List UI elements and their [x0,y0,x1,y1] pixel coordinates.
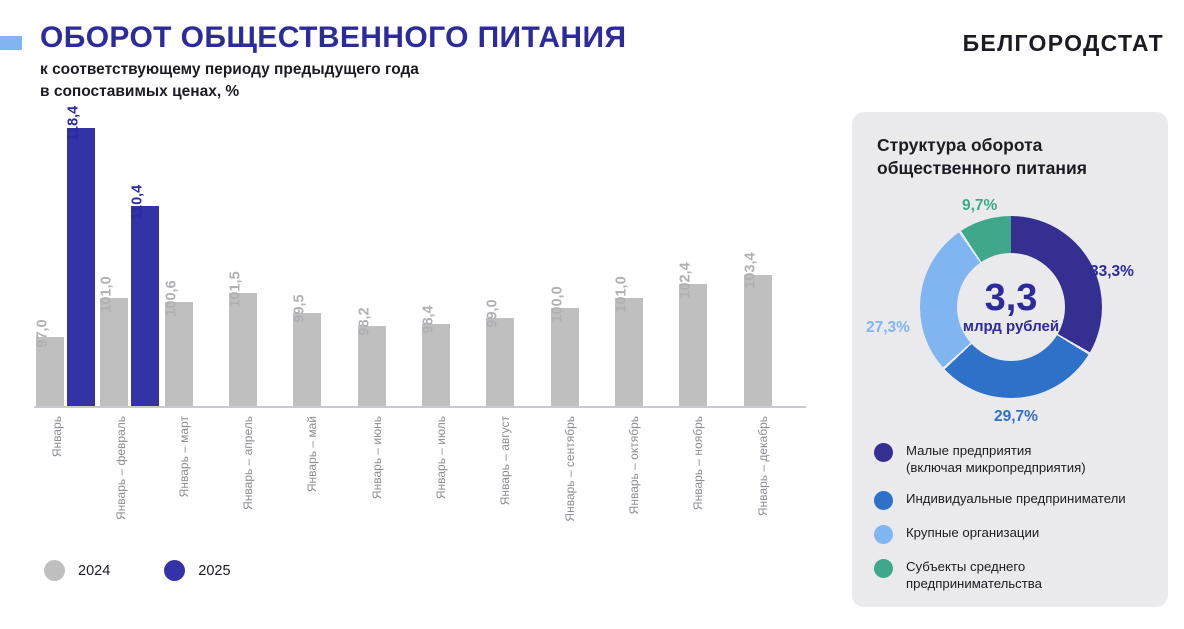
donut-chart-panel: Структура оборота общественного питания … [852,112,1168,607]
donut-legend-swatch-icon [874,491,893,510]
bar-2025[interactable]: 110,4 [131,206,159,406]
bar-2024[interactable]: 99,0 [486,318,514,406]
donut-legend-label-line1: Крупные организации [906,524,1039,541]
bar-2024[interactable]: 101,0 [100,298,128,406]
bar-group: 99,5 [291,112,355,406]
donut-legend-item[interactable]: Малые предприятия(включая микропредприят… [874,442,1156,476]
legend-swatch-icon [164,560,185,581]
bar-chart-panel: 97,0118,4101,0110,4100,6101,599,598,298,… [22,112,822,617]
donut-legend-item[interactable]: Субъекты среднегопредпринимательства [874,558,1156,592]
bar-2025[interactable]: 118,4 [67,128,95,406]
title-block: ОБОРОТ ОБЩЕСТВЕННОГО ПИТАНИЯ к соответст… [40,22,626,102]
accent-square-icon [0,36,22,50]
x-axis-label: Январь – сентябрь [549,412,613,540]
bar-value-label: 102,4 [679,262,694,298]
page-subtitle-line2: в сопоставимых ценах, % [40,81,626,102]
x-axis-label-text: Январь – сентябрь [564,416,576,522]
bar-group: 98,2 [356,112,420,406]
page-title: ОБОРОТ ОБЩЕСТВЕННОГО ПИТАНИЯ [40,22,626,53]
x-axis-label-text: Январь – февраль [115,416,127,520]
bar-value-label: 97,0 [36,319,51,347]
bar-2024[interactable]: 100,0 [551,308,579,406]
bar-chart-legend: 20242025 [44,560,231,581]
x-axis-label: Январь – май [291,412,355,540]
donut-legend-label-line2: (включая микропредприятия) [906,459,1086,476]
legend-item-label: 2024 [78,563,110,579]
bar-value-label: 99,5 [293,295,308,323]
donut-legend-label: Малые предприятия(включая микропредприят… [906,442,1086,476]
x-axis-label: Январь – август [484,412,548,540]
page-header: ОБОРОТ ОБЩЕСТВЕННОГО ПИТАНИЯ к соответст… [0,0,1184,104]
donut-label-individual-entrepreneurs: 29,7% [994,409,1038,425]
bar-group: 100,6 [163,112,227,406]
bar-2024[interactable]: 99,5 [293,313,321,406]
donut-legend-label-line1: Малые предприятия [906,442,1086,459]
x-axis-label: Январь – март [163,412,227,540]
donut-legend-swatch-icon [874,559,893,578]
bar-value-label: 101,0 [100,276,115,312]
donut-legend-item[interactable]: Крупные организации [874,524,1156,544]
bar-group: 99,0 [484,112,548,406]
legend-item-2025[interactable]: 2025 [164,560,230,581]
bar-2024[interactable]: 98,2 [358,326,386,406]
bar-value-label: 103,4 [743,253,758,289]
x-axis-label-text: Январь – июнь [371,416,383,499]
donut-label-large-organizations: 27,3% [866,320,910,336]
bar-value-label: 118,4 [67,106,82,142]
bar-2024[interactable]: 103,4 [744,275,772,406]
bar-2024[interactable]: 102,4 [679,284,707,406]
donut-label-medium-enterprises: 9,7% [962,198,997,214]
x-axis-label-text: Январь – октябрь [628,416,640,514]
donut-center-value: 3,3 [985,280,1038,316]
donut-legend-label-line1: Субъекты среднего [906,558,1042,575]
donut-legend-label-line1: Индивидуальные предприниматели [906,490,1126,507]
bar-group: 101,5 [227,112,291,406]
x-axis-label: Январь – декабрь [742,412,806,540]
donut-title-line1: Структура оборота [877,134,1147,157]
bar-value-label: 110,4 [131,184,146,220]
x-axis-label: Январь – апрель [227,412,291,540]
x-axis-label: Январь – февраль [98,412,162,540]
x-axis-label: Январь – ноябрь [677,412,741,540]
bar-group: 100,0 [549,112,613,406]
bar-value-label: 98,2 [357,308,372,336]
legend-item-label: 2025 [198,563,230,579]
bar-value-label: 101,5 [229,271,244,307]
bar-2024[interactable]: 97,0 [36,337,64,406]
page-subtitle: к соответствующему периоду предыдущего г… [40,59,626,102]
bar-group: 101,0 [613,112,677,406]
x-axis-label-text: Январь – декабрь [757,416,769,516]
x-axis-label-text: Январь – май [306,416,318,492]
donut-label-small-enterprises: 33,3% [1090,264,1134,280]
donut-center-unit: млрд рублей [963,319,1059,334]
x-axis-label-text: Январь – август [499,416,511,505]
x-axis-label: Январь – октябрь [613,412,677,540]
donut-chart: 3,3 млрд рублей [920,216,1102,398]
x-axis-label: Январь – июль [420,412,484,540]
bar-value-label: 98,4 [422,306,437,334]
bar-group: 97,0118,4 [34,112,98,406]
x-axis-label: Январь – июнь [356,412,420,540]
bar-value-label: 101,0 [615,276,630,312]
bar-group: 98,4 [420,112,484,406]
bar-2024[interactable]: 101,0 [615,298,643,406]
x-axis-line [34,406,806,408]
donut-legend-label: Субъекты среднегопредпринимательства [906,558,1042,592]
donut-chart-legend: Малые предприятия(включая микропредприят… [874,442,1156,607]
page-subtitle-line1: к соответствующему периоду предыдущего г… [40,59,626,80]
donut-center: 3,3 млрд рублей [957,253,1065,361]
donut-chart-title: Структура оборота общественного питания [877,134,1147,180]
legend-item-2024[interactable]: 2024 [44,560,110,581]
brand-logo: БЕЛГОРОДСТАТ [963,30,1164,57]
x-axis-label-text: Январь – июль [435,416,447,499]
donut-legend-swatch-icon [874,525,893,544]
bar-group: 101,0110,4 [98,112,162,406]
bar-value-label: 100,6 [164,280,179,316]
donut-legend-label-line2: предпринимательства [906,575,1042,592]
donut-legend-item[interactable]: Индивидуальные предприниматели [874,490,1156,510]
x-axis-label-text: Январь – апрель [242,416,254,510]
x-axis-label-text: Январь – март [178,416,190,497]
bar-value-label: 100,0 [550,286,565,322]
bar-value-label: 99,0 [486,300,501,328]
bar-2024[interactable]: 101,5 [229,293,257,406]
legend-swatch-icon [44,560,65,581]
bar-group: 103,4 [742,112,806,406]
bar-chart-plot: 97,0118,4101,0110,4100,6101,599,598,298,… [34,112,806,406]
x-axis-label: Январь [34,412,98,540]
donut-legend-swatch-icon [874,443,893,462]
bar-group: 102,4 [677,112,741,406]
donut-legend-label: Крупные организации [906,524,1039,541]
x-axis-labels: ЯнварьЯнварь – февральЯнварь – мартЯнвар… [34,412,806,542]
x-axis-label-text: Январь – ноябрь [692,416,704,510]
donut-legend-label: Индивидуальные предприниматели [906,490,1126,507]
donut-title-line2: общественного питания [877,157,1147,180]
bar-2024[interactable]: 100,6 [165,302,193,406]
x-axis-label-text: Январь [51,416,63,457]
bar-2024[interactable]: 98,4 [422,324,450,406]
